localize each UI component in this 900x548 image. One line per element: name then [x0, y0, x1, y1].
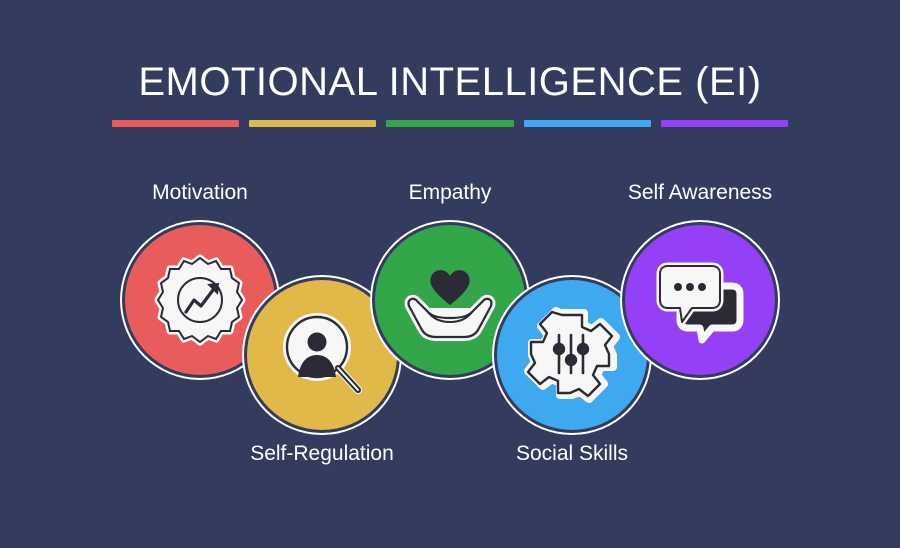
infographic-canvas: EMOTIONAL INTELLIGENCE (EI) — [0, 0, 900, 548]
speech-bubbles-icon — [650, 250, 750, 350]
heart-in-hands-icon — [400, 250, 500, 350]
magnifier-person-icon — [272, 305, 372, 405]
accent-segment-purple — [661, 120, 788, 127]
gear-arrow-icon — [150, 250, 250, 350]
node-self-awareness-label: Self Awareness — [545, 181, 855, 205]
accent-segment-red — [112, 120, 239, 127]
accent-bar — [112, 120, 788, 127]
accent-segment-green — [386, 120, 513, 127]
node-self-awareness[interactable]: Self Awareness — [625, 225, 775, 375]
accent-segment-yellow — [249, 120, 376, 127]
page-title: EMOTIONAL INTELLIGENCE (EI) — [0, 60, 900, 105]
node-social-skills-label: Social Skills — [417, 442, 727, 466]
gear-sliders-icon — [522, 305, 622, 405]
accent-segment-blue — [524, 120, 651, 127]
